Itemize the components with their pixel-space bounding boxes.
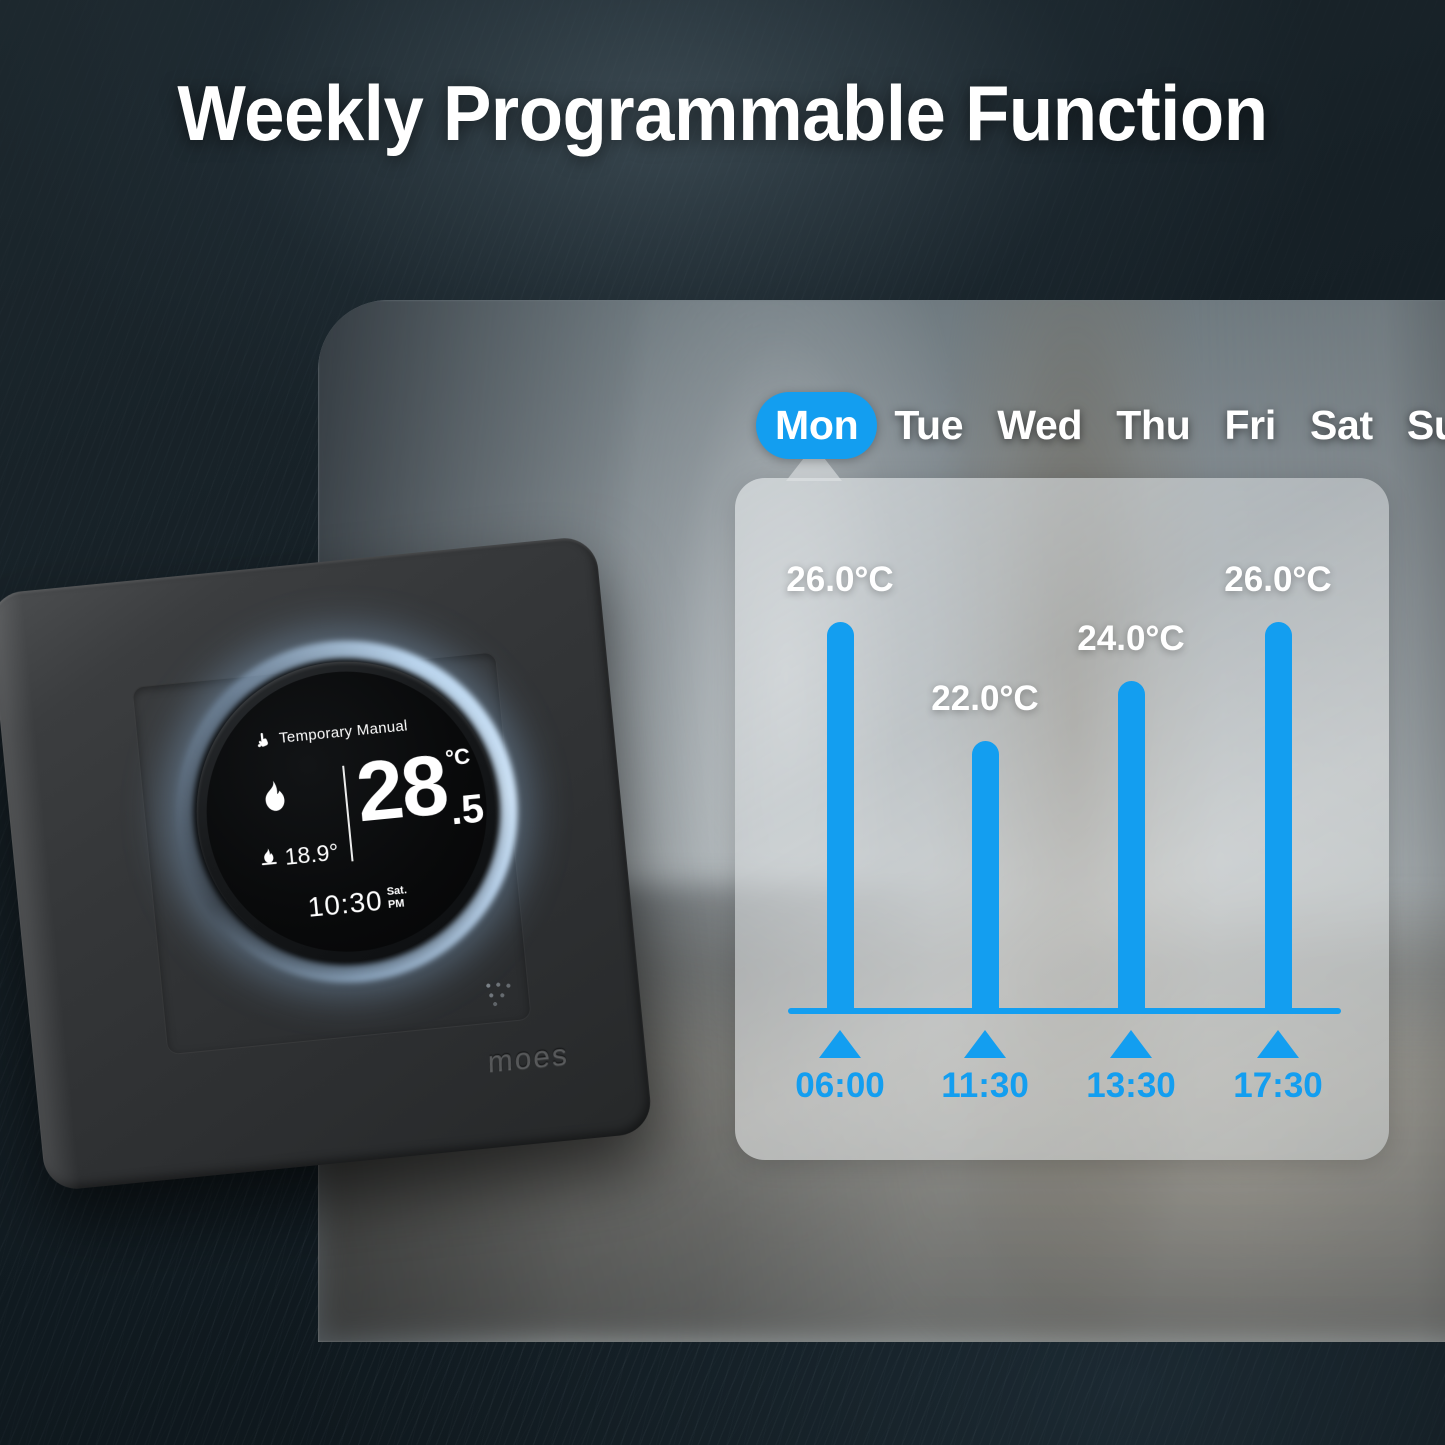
temperature-decimal: .5 [449, 788, 486, 831]
bar-2[interactable] [1118, 681, 1145, 1014]
bar-value-label-2: 24.0°C [1077, 621, 1184, 656]
day-tab-fri[interactable]: Fri [1207, 392, 1293, 459]
clock-day-period: Sat. PM [386, 884, 409, 911]
clock-meridiem: PM [387, 897, 408, 912]
day-selector: Mon Tue Wed Thu Fri Sat Sun [756, 392, 1445, 459]
bar-3[interactable] [1265, 622, 1292, 1014]
flame-icon [257, 779, 291, 821]
brand-logo: moes [487, 1038, 569, 1080]
tick-marker-0 [819, 1030, 861, 1058]
day-tab-thu[interactable]: Thu [1099, 392, 1207, 459]
tick-label-2: 13:30 [1086, 1068, 1176, 1103]
tick-label-0: 06:00 [795, 1068, 885, 1103]
tick-label-3: 17:30 [1233, 1068, 1323, 1103]
flame-glyph-icon [257, 779, 290, 816]
floor-heating-icon [258, 846, 280, 868]
day-tab-sun[interactable]: Sun [1390, 392, 1445, 459]
clock-time: 10:30 [306, 887, 383, 922]
floor-temp-row: 18.9° [258, 839, 340, 874]
temperature-unit: °C [444, 745, 471, 769]
hand-touch-icon [254, 731, 273, 750]
tick-marker-1 [964, 1030, 1006, 1058]
tick-marker-3 [1257, 1030, 1299, 1058]
current-temperature: 28 °C .5 [353, 743, 486, 841]
thermostat-device: moes Temporary Manual [0, 513, 736, 1218]
schedule-bar-chart: 26.0°C 06:00 22.0°C 11:30 24.0°C 13:30 2… [735, 478, 1389, 1160]
day-tab-tue[interactable]: Tue [877, 392, 980, 459]
bar-value-label-0: 26.0°C [786, 562, 893, 597]
promo-screenshot: Weekly Programmable Function Mon Tue Wed… [0, 0, 1445, 1445]
screen-clock: 10:30 Sat. PM [306, 884, 409, 922]
temperature-integer: 28 [353, 746, 450, 832]
day-tab-mon[interactable]: Mon [756, 392, 877, 459]
bar-value-label-3: 26.0°C [1224, 562, 1331, 597]
screen-divider [342, 766, 353, 862]
day-tab-sat[interactable]: Sat [1293, 392, 1390, 459]
chart-baseline [788, 1008, 1341, 1014]
floor-temp-value: 18.9° [284, 839, 340, 871]
page-title: Weekly Programmable Function [51, 74, 1395, 152]
bar-1[interactable] [972, 741, 999, 1014]
sensor-vents-icon [484, 979, 516, 1008]
bar-value-label-1: 22.0°C [931, 681, 1038, 716]
day-tab-wed[interactable]: Wed [980, 392, 1099, 459]
tick-label-1: 11:30 [941, 1068, 1029, 1103]
bar-0[interactable] [827, 622, 854, 1014]
tick-marker-2 [1110, 1030, 1152, 1058]
